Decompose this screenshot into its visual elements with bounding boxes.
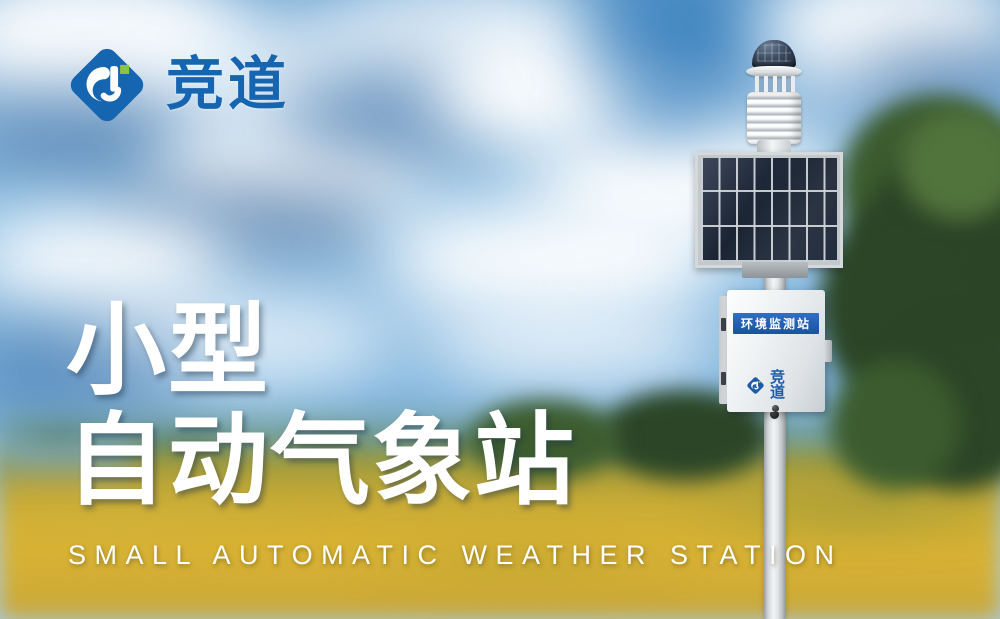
solar-panel-bracket bbox=[742, 262, 808, 278]
control-box-logo-text: 竞道 bbox=[770, 370, 786, 400]
hero-title-line-1: 小型 bbox=[66, 296, 576, 406]
control-box-screw-icon bbox=[772, 405, 779, 412]
product-banner: 环境监测站 竞道 bbox=[0, 0, 1000, 619]
hero-subtitle: SMALL AUTOMATIC WEATHER STATION bbox=[68, 540, 843, 571]
brand-name: 竞道 bbox=[166, 56, 290, 114]
hero-title-line-2: 自动气象站 bbox=[66, 406, 576, 516]
radiation-shield-icon bbox=[747, 92, 801, 144]
control-box-banner-label: 环境监测站 bbox=[741, 318, 811, 330]
hero-title: 小型 自动气象站 bbox=[66, 296, 576, 516]
brand-logo[interactable]: 竞道 bbox=[66, 44, 290, 126]
control-box-logo: 竞道 bbox=[746, 370, 786, 400]
connector-port-icon bbox=[721, 372, 726, 385]
solar-panel-sheen bbox=[701, 158, 837, 262]
jingdao-diamond-logo-icon bbox=[746, 376, 765, 395]
solar-panel-icon bbox=[695, 152, 843, 268]
control-box-right-latch bbox=[824, 340, 832, 362]
control-box-banner: 环境监测站 bbox=[733, 313, 819, 334]
jingdao-diamond-logo-icon bbox=[66, 44, 148, 126]
tree-foliage bbox=[830, 360, 960, 490]
connector-port-icon bbox=[721, 318, 726, 331]
